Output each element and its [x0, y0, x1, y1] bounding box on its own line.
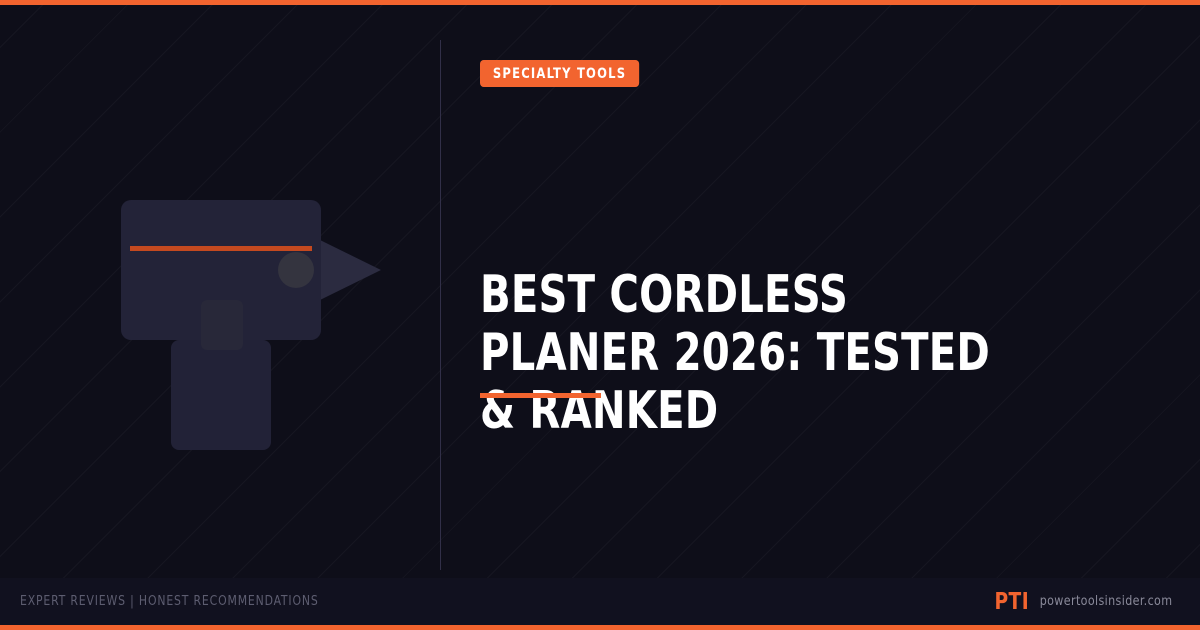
footer-tagline: EXPERT REVIEWS | HONEST RECOMMENDATIONS [20, 594, 319, 609]
brand-lockup[interactable]: PTI powertoolsinsider.com [990, 589, 1180, 615]
bottom-accent-bar [0, 625, 1200, 630]
cordless-planer-illustration [0, 0, 440, 578]
planer-accent-stripe-icon [130, 246, 312, 251]
vertical-divider [440, 40, 441, 570]
footer-bar: EXPERT REVIEWS | HONEST RECOMMENDATIONS … [0, 578, 1200, 630]
planer-handle-shape-icon [171, 340, 271, 450]
brand-domain-text: powertoolsinsider.com [1034, 594, 1172, 609]
headline-content-block: SPECIALTY TOOLS BEST CORDLESS PLANER 202… [480, 0, 1180, 578]
brand-logo-mark: PTI [994, 589, 1034, 615]
page-title: BEST CORDLESS PLANER 2026: TESTED & RANK… [480, 266, 1030, 441]
title-underline-rule [480, 393, 601, 398]
planer-blade-shape-icon [320, 240, 381, 300]
planer-base-plate-icon [201, 300, 243, 350]
social-card-canvas: SPECIALTY TOOLS BEST CORDLESS PLANER 202… [0, 0, 1200, 630]
category-badge[interactable]: SPECIALTY TOOLS [480, 60, 639, 87]
planer-depth-knob-icon [278, 252, 314, 288]
